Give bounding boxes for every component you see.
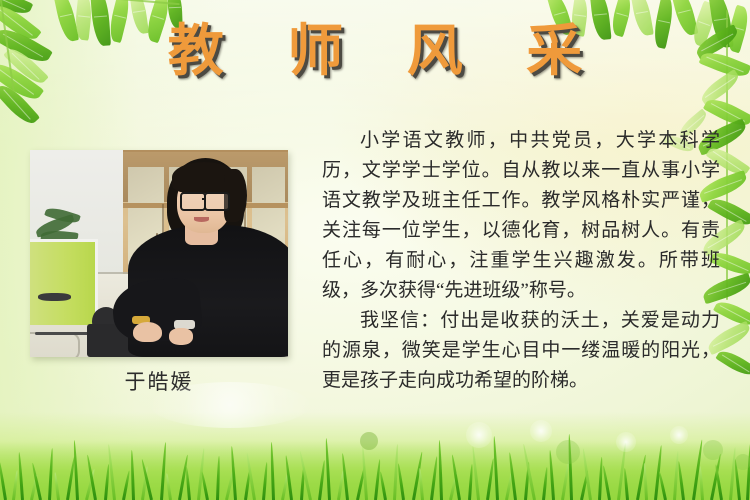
profile-paragraph-2: 我坚信：付出是收获的沃土，关爱是动力的源泉，微笑是学生心目中一缕温暖的阳光，更是… bbox=[322, 306, 720, 396]
profile-paragraph-1: 小学语文教师，中共党员，大学本科学历，文学学士学位。自从教以来一直从事小学语文教… bbox=[322, 126, 720, 306]
teacher-profile-poster: 教 师 风 采 bbox=[0, 0, 750, 500]
background-soft-glow bbox=[150, 382, 310, 428]
profile-text: 小学语文教师，中共党员，大学本科学历，文学学士学位。自从教以来一直从事小学语文教… bbox=[322, 126, 720, 396]
page-title: 教 师 风 采 bbox=[0, 20, 750, 84]
teacher-photo bbox=[30, 150, 288, 357]
